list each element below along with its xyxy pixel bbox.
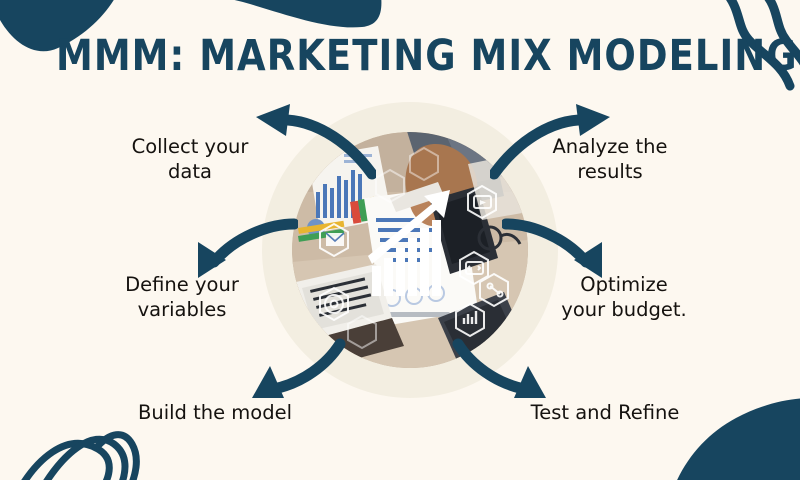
step-label-collect: Collect your data xyxy=(88,134,292,184)
step-label-analyze: Analyze the results xyxy=(508,134,712,184)
top-center-blob xyxy=(126,0,381,27)
step-label-define: Define your variables xyxy=(80,272,284,322)
step-label-optimize: Optimize your budget. xyxy=(522,272,726,322)
bottom-left-scribble xyxy=(18,435,136,480)
center-photo xyxy=(292,132,528,368)
page-title: MMM: MARKETING MIX MODELING xyxy=(56,32,744,80)
step-label-test: Test and Refine xyxy=(500,400,710,425)
step-label-build: Build the model xyxy=(110,400,320,425)
infographic-canvas: MMM: MARKETING MIX MODELING xyxy=(0,0,800,480)
